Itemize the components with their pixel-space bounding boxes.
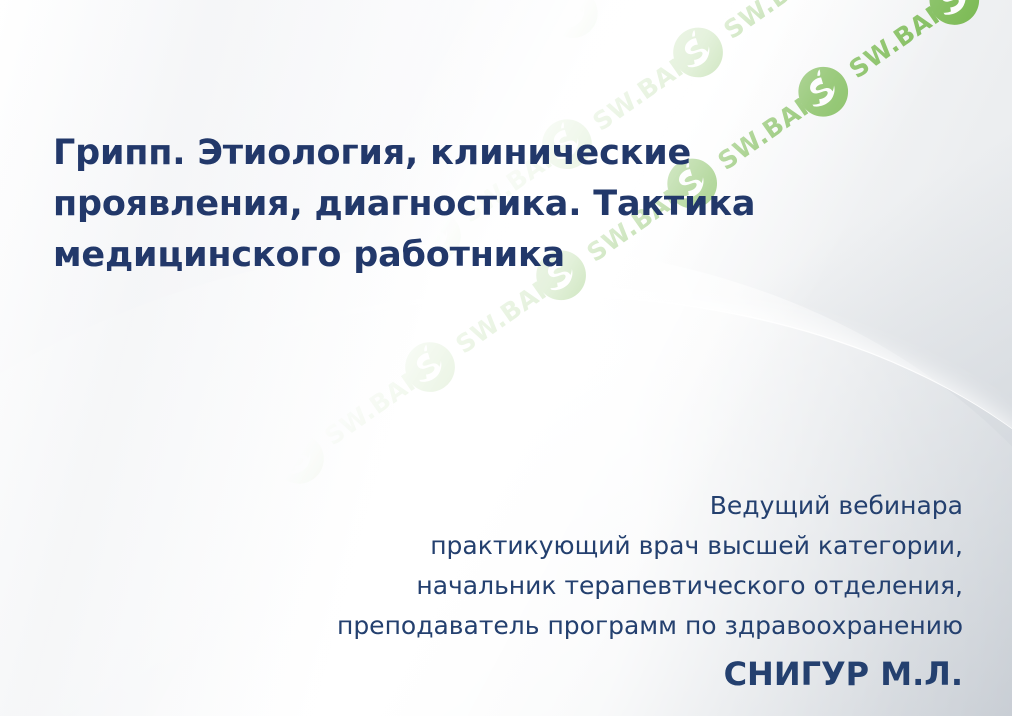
presentation-slide: SW.BANDSW.BANDSW.BANDSW.BANDSW.BANDSW.BA… [0, 0, 1012, 716]
watermark-item: SW.BAND [0, 0, 91, 117]
presenter-role-line-3: начальник терапевтического отделения, [203, 566, 963, 606]
presenter-role-line-1: Ведущий вебинара [203, 486, 963, 526]
watermark-label: SW.BAND [587, 34, 716, 136]
watermark-label: SW.BAND [718, 0, 847, 44]
sw-band-s-logo [785, 54, 860, 129]
sw-band-s-logo [410, 0, 485, 12]
watermark-item: SW.BAND [660, 0, 854, 90]
sw-band-s-logo [535, 0, 610, 51]
watermark-item: SW.BAND [279, 0, 473, 103]
watermark-label: SW.BAND [212, 0, 341, 18]
presenter-role-line-2: практикующий врач высшей категории, [203, 526, 963, 566]
presenter-role-line-4: преподаватель программ по здравоохранени… [203, 606, 963, 646]
sw-band-s-logo [28, 0, 103, 25]
watermark-item: SW.BAND [535, 0, 729, 51]
sw-band-s-logo [279, 28, 354, 103]
watermark-item: SW.BAND [410, 0, 604, 12]
watermark-label: SW.BAND [80, 8, 209, 110]
watermark-label: SW.BAND [462, 0, 591, 97]
watermark-item: SW.BAND [785, 0, 979, 130]
watermark-item: SW.BAND [916, 0, 1012, 38]
title-line-3: медицинского работника [53, 230, 873, 281]
watermark-label: SW.BAND [0, 0, 84, 71]
title-line-1: Грипп. Этиология, клинические [53, 128, 873, 179]
watermark-label: SW.BAND [337, 0, 466, 58]
sw-band-s-logo [916, 0, 991, 38]
sw-band-s-logo [154, 0, 229, 64]
watermark-item: SW.BAND [154, 0, 348, 64]
watermark-item: SW.BAND [404, 0, 598, 143]
presenter-name: СНИГУР М.Л. [203, 652, 963, 696]
sw-band-s-logo [660, 15, 735, 90]
watermark-item: SW.BAND [28, 0, 222, 25]
slide-title: Грипп. Этиология, клинические проявления… [53, 128, 873, 281]
watermark-label: SW.BAND [843, 0, 972, 84]
watermark-label: SW.BAND [593, 0, 722, 5]
title-line-2: проявления, диагностика. Тактика [53, 179, 873, 230]
presenter-block: Ведущий вебинара практикующий врач высше… [203, 486, 963, 696]
